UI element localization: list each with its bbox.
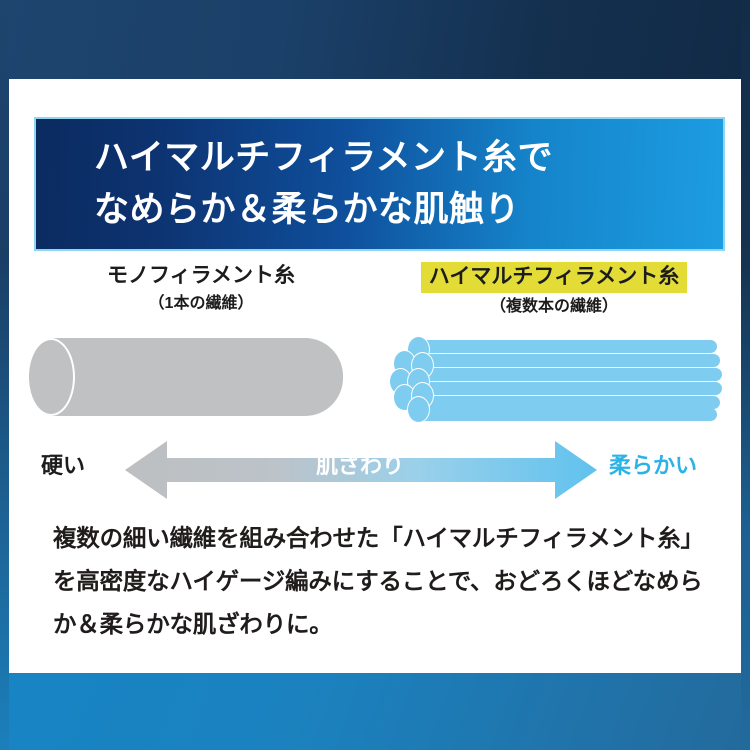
comparison-section: モノフィラメント糸 （1本の繊維） ハイマルチフィラメント糸 （複数本の繊維） xyxy=(9,262,741,437)
mono-cylinder-end-cap xyxy=(27,338,75,416)
content-card: ハイマルチフィラメント糸で なめらか＆柔らかな肌触り モノフィラメント糸 （1本… xyxy=(9,79,741,673)
softness-scale: 肌ざわり 硬い 柔らかい xyxy=(9,439,741,501)
filament-end-cap xyxy=(407,396,430,423)
mono-filament-subtitle: （1本の繊維） xyxy=(31,292,371,316)
comparison-column-mono: モノフィラメント糸 （1本の繊維） xyxy=(31,262,371,316)
multi-filament-illustration xyxy=(389,338,725,418)
frame-band-right xyxy=(741,0,750,750)
frame-band-top xyxy=(0,0,750,80)
mono-title-wrap: モノフィラメント糸 xyxy=(31,262,371,290)
filament-strand xyxy=(417,340,717,353)
headline-line-1: ハイマルチフィラメント糸で xyxy=(94,132,723,184)
scale-label-soft: 柔らかい xyxy=(609,451,697,481)
infographic-canvas: ハイマルチフィラメント糸で なめらか＆柔らかな肌触り モノフィラメント糸 （1本… xyxy=(0,0,750,750)
comparison-column-multi: ハイマルチフィラメント糸 （複数本の繊維） xyxy=(384,262,724,319)
frame-band-left xyxy=(0,0,9,750)
double-arrow-icon xyxy=(105,439,617,501)
headline-banner: ハイマルチフィラメント糸で なめらか＆柔らかな肌触り xyxy=(36,119,723,249)
mono-cylinder-body xyxy=(49,338,343,416)
headline-line-2: なめらか＆柔らかな肌触り xyxy=(94,184,723,236)
filament-strand xyxy=(397,368,722,381)
multi-filament-subtitle: （複数本の繊維） xyxy=(384,295,724,319)
multi-title-wrap: ハイマルチフィラメント糸 xyxy=(384,262,724,293)
mono-filament-title: モノフィラメント糸 xyxy=(107,262,295,290)
frame-band-bottom xyxy=(0,672,750,750)
scale-label-hard: 硬い xyxy=(41,451,85,481)
body-paragraph: 複数の細い繊維を組み合わせた「ハイマルチフィラメント糸」を高密度なハイゲージ編み… xyxy=(53,517,713,646)
mono-filament-illustration xyxy=(27,338,353,416)
filament-strand xyxy=(397,382,722,395)
filament-strand xyxy=(417,408,717,421)
filament-strand xyxy=(409,354,720,367)
multi-filament-title: ハイマルチフィラメント糸 xyxy=(421,262,688,293)
